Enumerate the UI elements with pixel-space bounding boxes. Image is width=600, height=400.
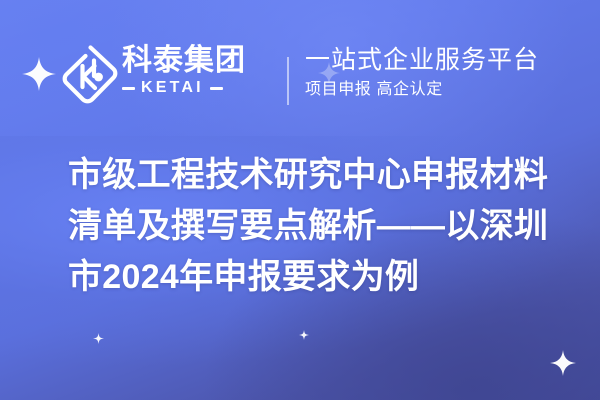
brand-name-en: KETAI bbox=[141, 79, 204, 97]
tagline-sub: 项目申报 高企认定 bbox=[305, 78, 539, 102]
tagline-block: 一站式企业服务平台 项目申报 高企认定 bbox=[305, 44, 539, 102]
brand-rule-left bbox=[122, 87, 135, 90]
brand-name-en-row: KETAI bbox=[122, 79, 272, 97]
ketai-logo-mark-icon bbox=[60, 42, 120, 108]
tagline-main: 一站式企业服务平台 bbox=[305, 44, 539, 76]
banner-header: 科泰集团 KETAI 一站式企业服务平台 项目申报 高企认定 bbox=[0, 0, 600, 132]
banner-title: 市级工程技术研究中心申报材料清单及撰写要点解析——以深圳市2024年申报要求为例 bbox=[68, 150, 564, 303]
header-divider bbox=[287, 57, 289, 105]
brand-rule-right bbox=[210, 87, 223, 90]
promo-banner: 科泰集团 KETAI 一站式企业服务平台 项目申报 高企认定 市级工程技术研究中… bbox=[0, 0, 600, 400]
brand-name-cn: 科泰集团 bbox=[122, 44, 272, 78]
brand-lockup: 科泰集团 KETAI bbox=[122, 44, 272, 97]
